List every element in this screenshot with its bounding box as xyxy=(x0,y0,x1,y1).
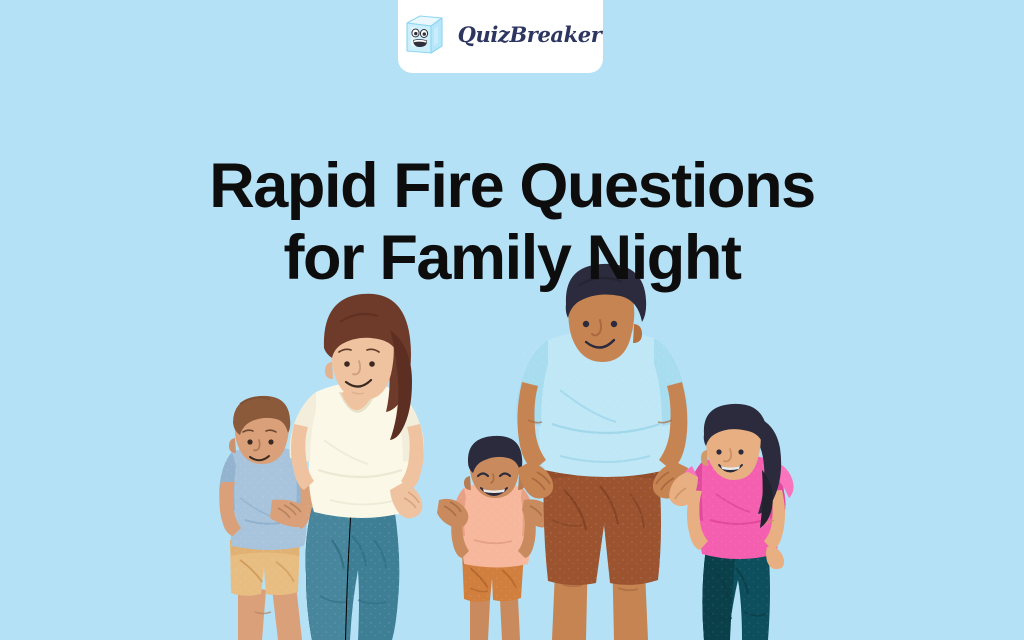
family-illustration xyxy=(0,0,1024,640)
hand-girl-father xyxy=(669,472,698,506)
hand-boy-mother xyxy=(270,500,310,527)
hand-young-boy-mother xyxy=(437,499,468,528)
poster-canvas: QuizBreaker Rapid Fire Questions for Fam… xyxy=(0,0,1024,640)
page-title: Rapid Fire Questions for Family Night xyxy=(0,150,1024,294)
figure-older-boy xyxy=(219,396,313,640)
figure-young-boy xyxy=(437,436,553,640)
hand-young-boy-father xyxy=(522,499,553,527)
quizbreaker-logo-card[interactable]: QuizBreaker xyxy=(398,0,603,73)
hand-father-young-boy xyxy=(518,462,553,499)
page-title-line-1: Rapid Fire Questions xyxy=(0,150,1024,222)
figure-father xyxy=(516,264,688,640)
figure-girl xyxy=(669,404,793,640)
hand-mother-young-boy xyxy=(390,482,422,518)
hand-father-girl xyxy=(653,462,688,499)
quizbreaker-wordmark: QuizBreaker xyxy=(458,22,602,47)
page-title-line-2: for Family Night xyxy=(0,222,1024,294)
figure-mother xyxy=(290,294,425,640)
ice-cube-mascot-icon xyxy=(400,13,446,57)
